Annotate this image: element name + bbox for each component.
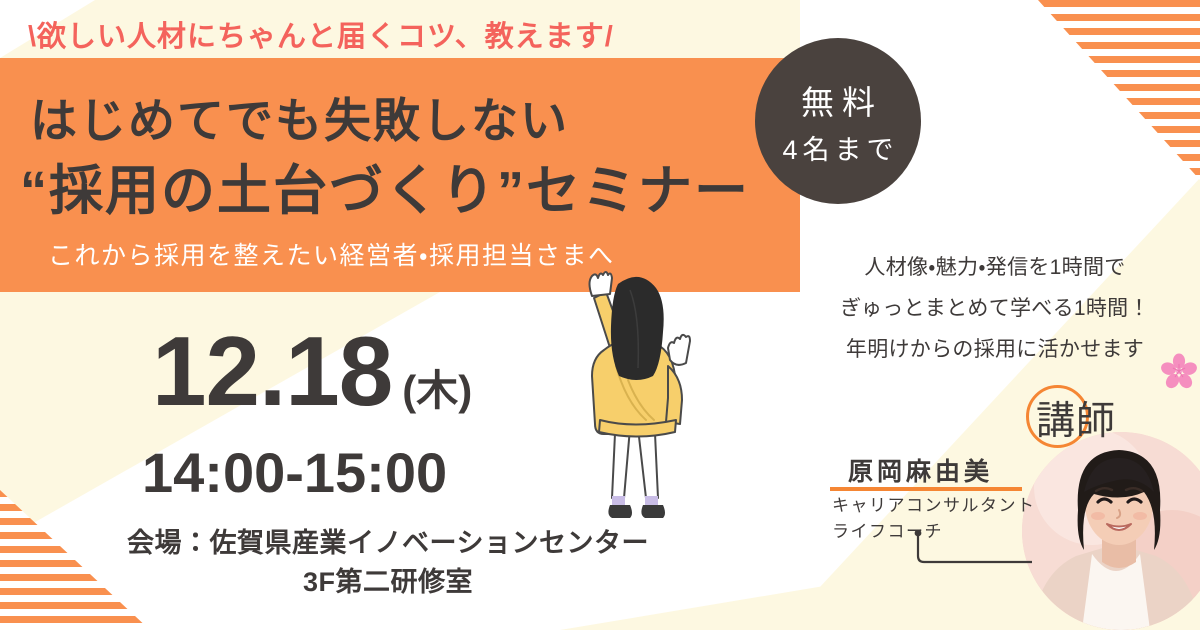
striped-triangle-topright bbox=[1038, 0, 1200, 180]
lecturer-connector-line-icon bbox=[912, 528, 1032, 566]
event-date: 12.18 (木) bbox=[152, 322, 472, 420]
event-venue: 会場：佐賀県産業イノベーションセンター 3F第二研修室 bbox=[108, 524, 668, 602]
title-line-1: はじめてでも失敗しない bbox=[30, 82, 569, 151]
description-line-3: 年明けからの採用に活かせます bbox=[800, 330, 1190, 371]
waving-woman-illustration bbox=[568, 262, 708, 534]
title-block: はじめてでも失敗しない “採用の土台づくり”セミナー これから採用を整えたい経営… bbox=[0, 58, 800, 292]
title-line-2: “採用の土台づくり”セミナー bbox=[20, 146, 750, 225]
description-line-2: ぎゅっとまとめて学べる1時間！ bbox=[800, 289, 1190, 330]
event-date-number: 12.18 bbox=[152, 322, 392, 420]
free-badge-main-label: 無料 bbox=[793, 76, 883, 124]
description-line-1: 人材像・魅力・発信を1時間で bbox=[800, 248, 1190, 289]
event-time: 14:00-15:00 bbox=[142, 440, 447, 505]
free-badge-capacity-label: 4名まで bbox=[777, 128, 898, 167]
free-badge: 無料 4名まで bbox=[755, 38, 921, 204]
seminar-poster: \欲しい人材にちゃんと届くコツ、教えます/ はじめてでも失敗しない “採用の土台… bbox=[0, 0, 1200, 630]
catch-copy: \欲しい人材にちゃんと届くコツ、教えます/ bbox=[28, 13, 614, 55]
lecturer-avatar bbox=[1022, 432, 1200, 630]
lecturer-portrait-illustration bbox=[1022, 432, 1200, 630]
event-description: 人材像・魅力・発信を1時間で ぎゅっとまとめて学べる1時間！ 年明けからの採用に… bbox=[800, 248, 1190, 371]
venue-line-2: 3F第二研修室 bbox=[108, 563, 668, 602]
lecturer-label: 講師 bbox=[1036, 390, 1116, 446]
title-subtitle: これから採用を整えたい経営者・採用担当さまへ bbox=[48, 236, 615, 272]
lecturer-name-underline bbox=[830, 487, 1022, 491]
event-day-of-week: (木) bbox=[402, 370, 472, 412]
lecturer-title-1: キャリアコンサルタント bbox=[832, 493, 1036, 519]
lecturer-name: 原岡麻由美 bbox=[848, 452, 993, 488]
sakura-flower-icon bbox=[1160, 353, 1198, 391]
